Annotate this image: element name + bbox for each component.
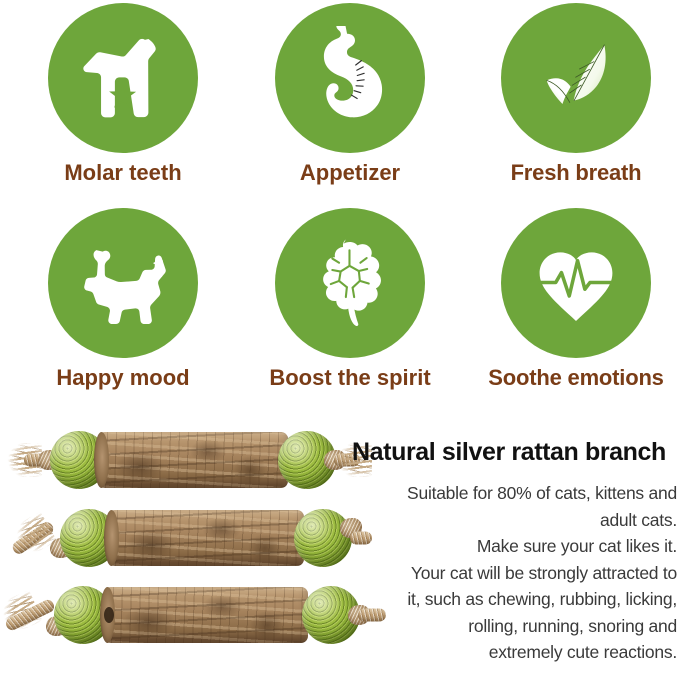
benefit-soothe-emotions: Soothe emotions	[473, 205, 679, 410]
description-line: adult cats.	[352, 507, 677, 534]
tooth-icon	[71, 26, 175, 130]
benefit-label: Fresh breath	[473, 158, 679, 188]
log-hole	[104, 607, 114, 623]
product-photo-group	[0, 410, 400, 678]
log-end-cap	[94, 432, 109, 488]
benefit-label: Happy mood	[20, 363, 226, 393]
product-info: Natural silver rattan branch Suitable fo…	[352, 436, 679, 666]
badge-circle	[501, 208, 651, 358]
silvervine-log	[98, 432, 288, 488]
description-line: it, such as chewing, rubbing, licking,	[352, 586, 677, 613]
description-line: Make sure your cat likes it.	[352, 533, 677, 560]
benefit-boost-the-spirit: Boost the spirit	[247, 205, 453, 410]
silvervine-stick	[0, 575, 390, 655]
badge-circle	[48, 208, 198, 358]
product-title: Natural silver rattan branch	[352, 436, 679, 468]
benefit-label: Boost the spirit	[247, 363, 453, 393]
description-line: extremely cute reactions.	[352, 639, 677, 666]
silvervine-log	[108, 510, 304, 566]
silvervine-stick	[0, 420, 366, 500]
product-infographic: Molar teeth	[0, 0, 679, 678]
description-line: Your cat will be strongly attracted to	[352, 560, 677, 587]
benefit-label: Molar teeth	[20, 158, 226, 188]
matatabi-ball	[294, 509, 352, 567]
benefit-fresh-breath: Fresh breath	[473, 0, 679, 205]
heart-pulse-icon	[524, 231, 628, 335]
silvervine-stick	[2, 498, 374, 578]
badge-circle	[48, 3, 198, 153]
benefits-grid: Molar teeth	[0, 0, 679, 410]
benefit-happy-mood: Happy mood	[20, 205, 226, 410]
description-line: Suitable for 80% of cats, kittens and	[352, 480, 677, 507]
benefit-label: Soothe emotions	[473, 363, 679, 393]
cat-icon	[68, 228, 178, 338]
leaf-icon	[528, 30, 624, 126]
description-line: rolling, running, snoring and	[352, 613, 677, 640]
silvervine-log	[104, 587, 308, 643]
badge-circle	[275, 3, 425, 153]
badge-circle	[275, 208, 425, 358]
benefits-row-1: Molar teeth	[0, 0, 679, 205]
benefit-label: Appetizer	[247, 158, 453, 188]
log-end-cap	[104, 510, 119, 566]
product-description: Suitable for 80% of cats, kittens and ad…	[352, 480, 679, 666]
stomach-icon	[298, 26, 402, 130]
benefits-row-2: Happy mood	[0, 205, 679, 410]
benefit-appetizer: Appetizer	[247, 0, 453, 205]
brain-icon	[298, 231, 402, 335]
badge-circle	[501, 3, 651, 153]
benefit-molar-teeth: Molar teeth	[20, 0, 226, 205]
rope-fray	[0, 511, 57, 564]
